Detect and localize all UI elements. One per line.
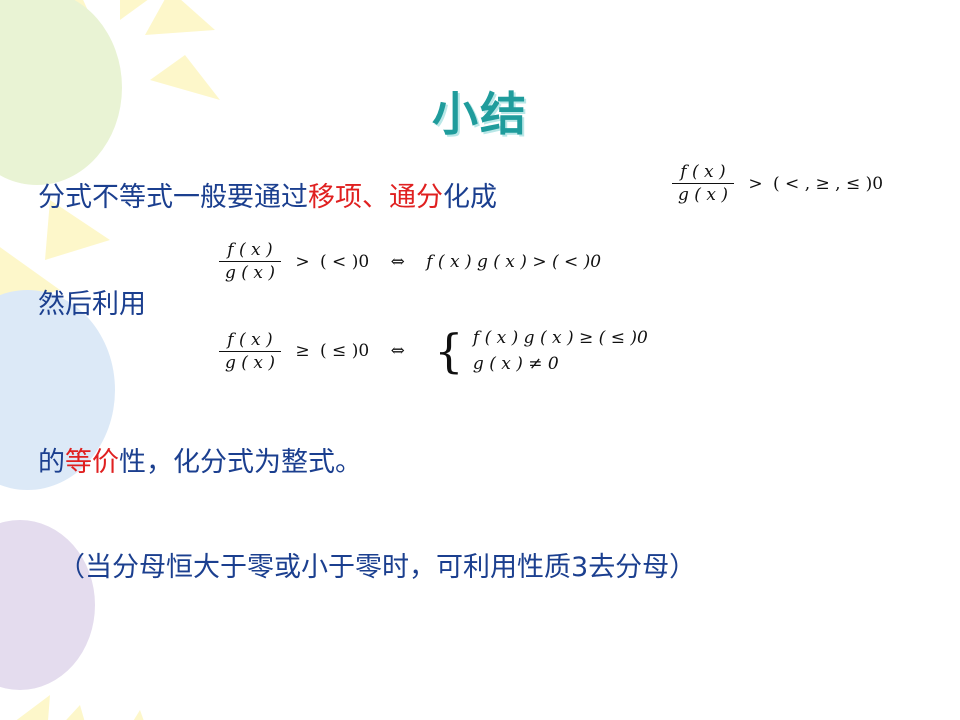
fraction-2: f ( x ) g ( x )	[219, 240, 281, 283]
math-3-system: f ( x ) g ( x ) ≥ ( ≤ )0 g ( x ) ≠ 0	[473, 325, 648, 377]
fraction-1: f ( x ) g ( x )	[672, 162, 734, 205]
line4-seg-3: 去分母）	[588, 552, 696, 583]
math-2-right-side: f ( x ) g ( x ) > ( < )0	[426, 252, 601, 272]
left-brace-icon: {	[434, 328, 463, 374]
page-title: 小结	[0, 78, 960, 144]
math-2-qualifier: ( < )0	[320, 252, 369, 272]
line3-seg-2: 等价	[65, 447, 119, 478]
fraction-2-denominator: g ( x )	[219, 261, 281, 283]
fraction-3: f ( x ) g ( x )	[219, 330, 281, 373]
fraction-3-denominator: g ( x )	[219, 351, 281, 373]
slide: 小结 分式不等式一般要通过移项、通分化成 f ( x ) g ( x ) > (…	[0, 0, 960, 720]
math-expression-2: f ( x ) g ( x ) > ( < )0 ⇔ f ( x ) g ( x…	[215, 240, 601, 283]
fraction-2-numerator: f ( x )	[219, 240, 281, 261]
text-line-3: 的等价性，化分式为整式。	[38, 440, 362, 479]
line1-seg-3: 化成	[443, 182, 497, 213]
line3-seg-1: 的	[38, 447, 65, 478]
math-3-system-line-2: g ( x ) ≠ 0	[473, 351, 648, 377]
fraction-3-numerator: f ( x )	[219, 330, 281, 351]
line1-seg-2: 移项、通分	[308, 182, 443, 213]
line4-seg-2: 3	[571, 552, 588, 583]
math-3-qualifier: ( ≤ )0	[320, 341, 369, 361]
line1-seg-1: 分式不等式一般要通过	[38, 182, 308, 213]
text-line-2: 然后利用	[38, 282, 146, 321]
math-2-equivalence-icon: ⇔	[391, 252, 405, 272]
fraction-1-numerator: f ( x )	[672, 162, 734, 183]
math-expression-3: f ( x ) g ( x ) ≥ ( ≤ )0 ⇔ { f ( x ) g (…	[215, 325, 648, 377]
text-line-1: 分式不等式一般要通过移项、通分化成	[38, 175, 497, 214]
math-3-equivalence-icon: ⇔	[391, 341, 405, 361]
line2-seg-1: 然后利用	[38, 289, 146, 320]
text-line-4: （当分母恒大于零或小于零时，可利用性质3去分母）	[58, 545, 696, 584]
math-2-relation: >	[295, 252, 309, 272]
math-expression-1: f ( x ) g ( x ) > ( < , ≥ , ≤ )0	[668, 162, 883, 205]
math-1-relation: >	[748, 174, 762, 194]
math-3-system-line-1: f ( x ) g ( x ) ≥ ( ≤ )0	[473, 325, 648, 351]
fraction-1-denominator: g ( x )	[672, 183, 734, 205]
math-3-relation: ≥	[295, 341, 309, 361]
line3-seg-3: 性，化分式为整式。	[119, 447, 362, 478]
line4-seg-1: （当分母恒大于零或小于零时，可利用性质	[58, 552, 571, 583]
math-1-qualifier: ( < , ≥ , ≤ )0	[773, 174, 883, 194]
